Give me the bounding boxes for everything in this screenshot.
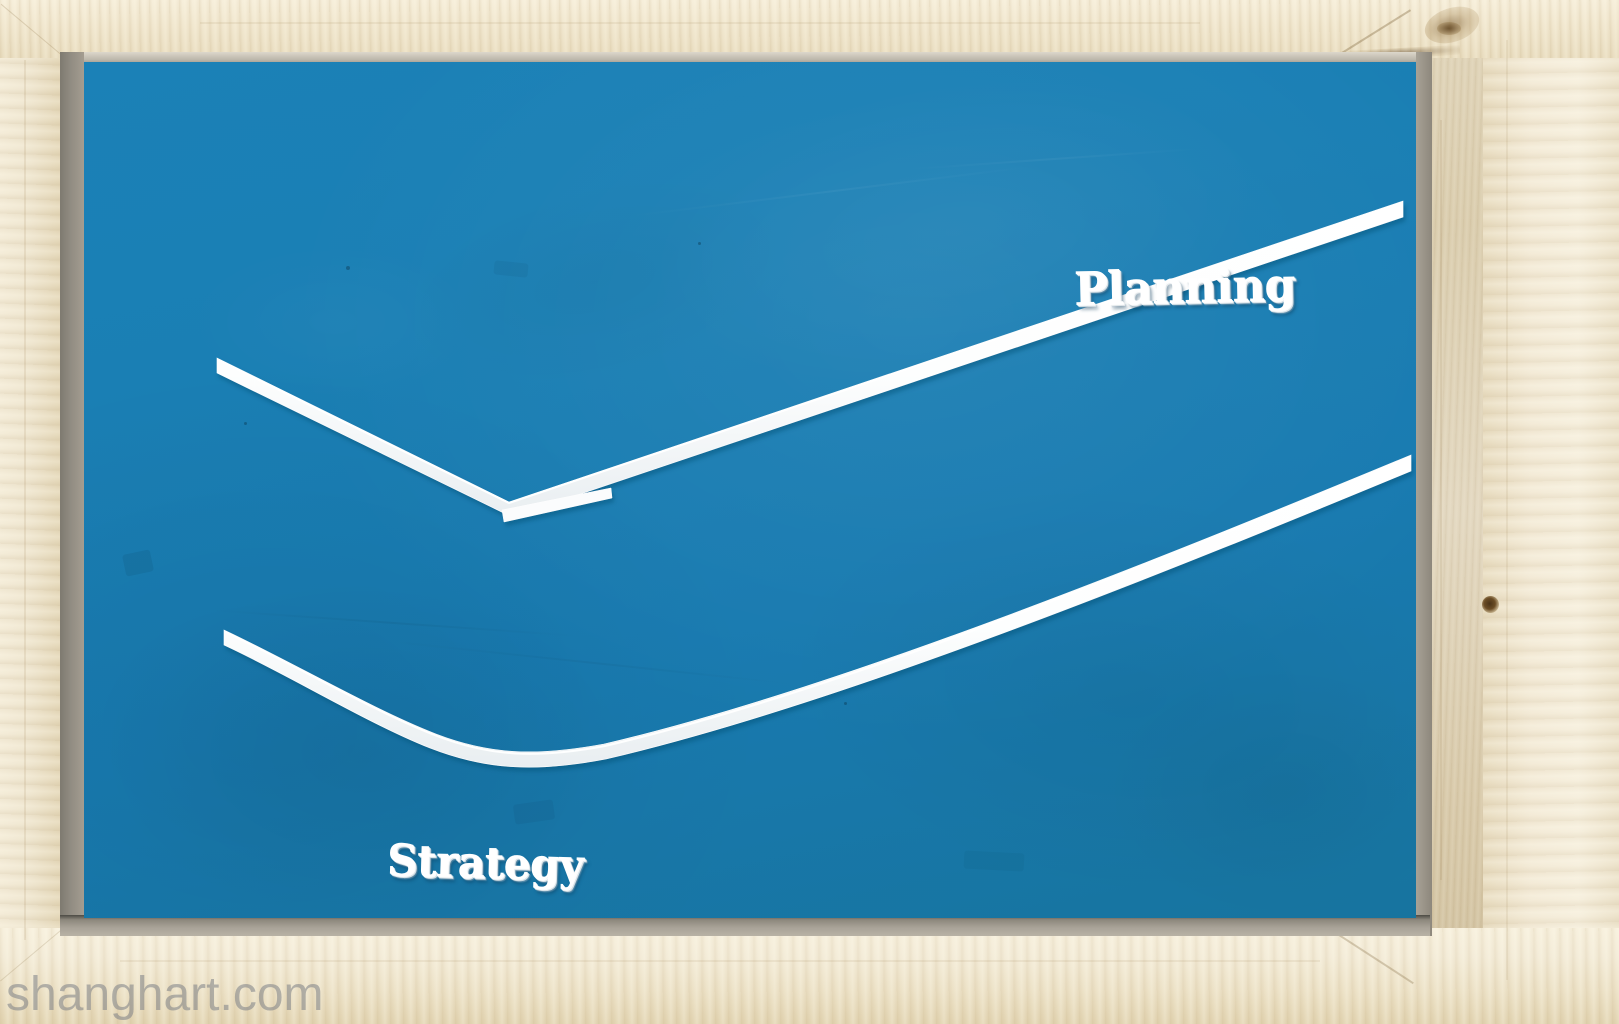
label-strategy-text: Strategy <box>386 835 584 891</box>
label-planning-text: Planning <box>1073 257 1295 316</box>
line-graph-shapes <box>84 62 1416 918</box>
frame-inner-bevel-bottom <box>60 915 1430 936</box>
wood-grain-line <box>1440 120 1442 880</box>
frame-rail-bottom <box>0 928 1619 1024</box>
blue-panel: Planning Strategy <box>84 62 1416 918</box>
frame-inner-bevel-right <box>1416 52 1432 936</box>
label-planning: Planning <box>1073 257 1295 316</box>
artwork-canvas: Planning Strategy shanghart.com <box>0 0 1619 1024</box>
strategy-line-highlight <box>225 457 1410 754</box>
wood-grain-line <box>24 60 26 940</box>
label-strategy: Strategy <box>386 835 584 891</box>
frame-rail-right <box>1483 0 1619 1024</box>
wood-grain-line <box>200 22 1200 24</box>
wood-grain-line <box>120 960 1320 962</box>
planning-line-strip <box>217 201 1403 517</box>
wood-grain-line <box>1506 40 1508 980</box>
frame-inner-bevel-left <box>60 52 84 936</box>
frame-rail-left <box>0 0 62 1024</box>
planning-line <box>217 201 1403 522</box>
